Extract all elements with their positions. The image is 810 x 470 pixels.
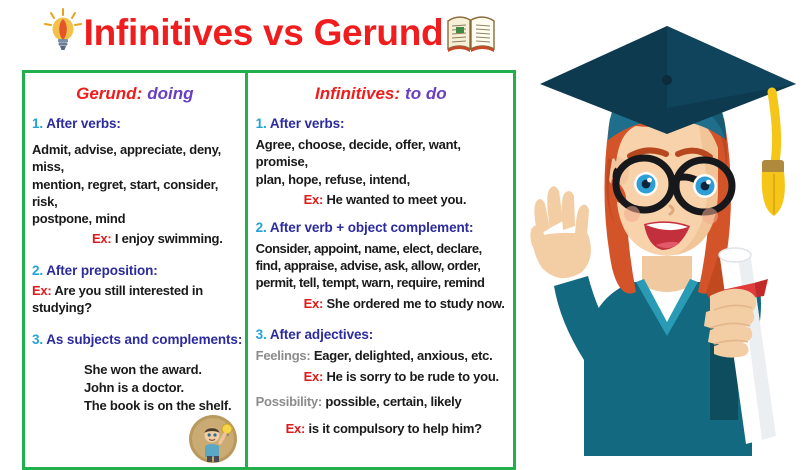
infinitives-column: Infinitives:to do 1. After verbs: Agree,…	[248, 73, 513, 467]
infinitives-label: Infinitives:	[315, 84, 400, 103]
word-line: find, appraise, advise, ask, allow, orde…	[256, 257, 506, 274]
section-number: 1.	[256, 116, 267, 131]
example-tag: Ex:	[32, 283, 51, 298]
page-title-row: Infinitives vs Gerund	[0, 2, 540, 64]
gerund-section-3-heading: 3. As subjects and complements:	[32, 332, 238, 347]
category-label-feelings: Feelings	[256, 348, 307, 363]
infinitives-section-1-words: Agree, choose, decide, offer, want, prom…	[256, 136, 506, 188]
section-number: 3.	[256, 327, 267, 342]
feelings-example: Ex: He is sorry to be rude to you.	[256, 369, 506, 386]
open-book-icon	[445, 12, 497, 54]
infinitives-section-1-example: Ex: He wanted to meet you.	[256, 192, 506, 209]
infinitives-section-2-heading: 2. After verb + object complement:	[256, 220, 506, 235]
category-items-possibility: possible, certain, likely	[325, 394, 461, 409]
example-tag: Ex:	[286, 421, 305, 436]
example-tag: Ex:	[92, 231, 111, 246]
gerund-section-1-example: Ex: I enjoy swimming.	[32, 231, 238, 248]
example-text: She ordered me to study now.	[327, 296, 505, 311]
graduate-student-illustration	[524, 0, 810, 456]
gerund-example-word: doing	[147, 84, 193, 103]
section-number: 3.	[32, 332, 43, 347]
category-items-feelings: Eager, delighted, anxious, etc.	[314, 348, 493, 363]
gerund-section-1-words: Admit, advise, appreciate, deny, miss, m…	[32, 141, 238, 227]
comparison-table: Gerund:doing 1. After verbs: Admit, advi…	[22, 70, 516, 470]
example-text: He wanted to meet you.	[327, 192, 467, 207]
section-title: After preposition:	[46, 263, 157, 278]
section-number: 2.	[32, 263, 43, 278]
infinitives-section-2-example: Ex: She ordered me to study now.	[256, 296, 506, 313]
example-text: I enjoy swimming.	[115, 231, 223, 246]
page-title: Infinitives vs Gerund	[84, 12, 444, 54]
possibility-example: Ex: is it compulsory to help him?	[256, 421, 506, 438]
section-title: After verb + object complement:	[270, 220, 474, 235]
example-tag: Ex:	[304, 296, 323, 311]
possibility-category-row: Possibility: possible, certain, likely	[256, 393, 506, 410]
gerund-column-heading: Gerund:doing	[32, 84, 238, 104]
infinitives-section-1-heading: 1. After verbs:	[256, 116, 506, 131]
gerund-label: Gerund:	[76, 84, 142, 103]
infinitives-section-2-words: Consider, appoint, name, elect, declare,…	[256, 240, 506, 292]
sentence-line: John is a doctor.	[84, 379, 238, 397]
word-line: permit, tell, tempt, warn, require, remi…	[256, 274, 506, 291]
gerund-section-1-heading: 1. After verbs:	[32, 116, 238, 131]
idea-man-icon	[187, 413, 239, 465]
word-line: Consider, appoint, name, elect, declare,	[256, 240, 506, 257]
section-title: After adjectives:	[270, 327, 373, 342]
section-title: After verbs:	[270, 116, 345, 131]
section-number: 2.	[256, 220, 267, 235]
word-line: plan, hope, refuse, intend,	[256, 171, 506, 188]
example-text: Are you still interested in studying?	[32, 283, 203, 315]
infinitives-example-word: to do	[405, 84, 447, 103]
word-line: mention, regret, start, consider, risk,	[32, 176, 238, 211]
feelings-category-row: Feelings: Eager, delighted, anxious, etc…	[256, 347, 506, 364]
infinitives-section-3-heading: 3. After adjectives:	[256, 327, 506, 342]
example-text: He is sorry to be rude to you.	[327, 369, 499, 384]
word-line: Agree, choose, decide, offer, want, prom…	[256, 136, 506, 171]
gerund-section-2-heading: 2. After preposition:	[32, 263, 238, 278]
infinitives-column-heading: Infinitives:to do	[256, 84, 506, 104]
example-tag: Ex:	[304, 192, 323, 207]
lightbulb-icon	[43, 8, 83, 54]
word-line: Admit, advise, appreciate, deny, miss,	[32, 141, 238, 176]
section-title: As subjects and complements:	[46, 332, 242, 347]
gerund-section-3-sentences: She won the award. John is a doctor. The…	[32, 361, 238, 415]
sentence-line: She won the award.	[84, 361, 238, 379]
example-tag: Ex:	[304, 369, 323, 384]
example-text: is it compulsory to help him?	[309, 421, 482, 436]
section-title: After verbs:	[46, 116, 121, 131]
section-number: 1.	[32, 116, 43, 131]
gerund-section-2-example: Ex: Are you still interested in studying…	[32, 283, 238, 317]
word-line: postpone, mind	[32, 210, 238, 227]
gerund-column: Gerund:doing 1. After verbs: Admit, advi…	[25, 73, 248, 467]
category-label-possibility: Possibility	[256, 394, 318, 409]
